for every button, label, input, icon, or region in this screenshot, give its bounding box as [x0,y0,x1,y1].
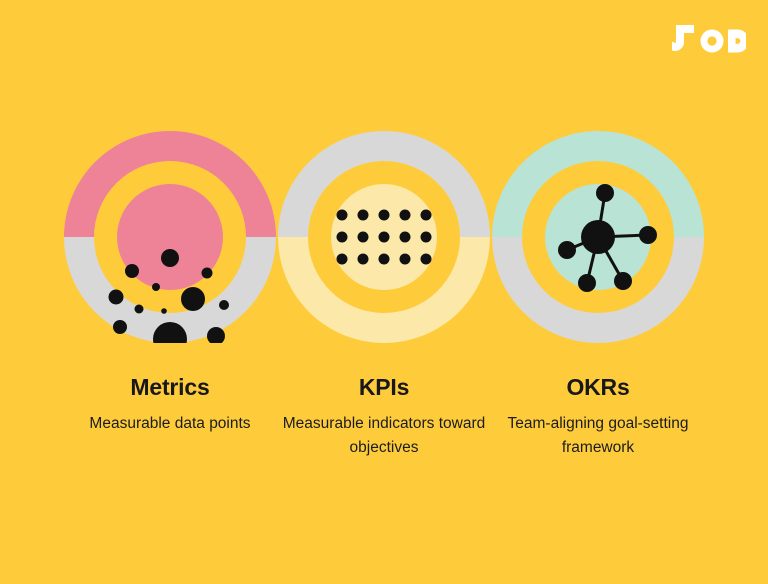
card-title-okrs: OKRs [566,375,629,400]
dot-grid-icon [278,131,490,343]
card-kpis[interactable]: KPIs Measurable indicators toward object… [278,0,490,460]
network-hub-icon [492,131,704,343]
card-title-metrics: Metrics [130,375,209,400]
card-description-okrs: Team-aligning goal-setting framework [493,412,703,460]
card-description-kpis: Measurable indicators toward objectives [279,412,489,460]
okrs-ring-graphic [492,131,704,343]
okrs-network-hub [581,220,615,254]
scatter-dots-icon [64,131,276,343]
card-description-metrics: Measurable data points [50,412,290,436]
metrics-ring-graphic [64,131,276,343]
infographic-slide: Metrics Measurable data points [0,0,768,584]
cards-row: Metrics Measurable data points [0,0,768,584]
card-metrics[interactable]: Metrics Measurable data points [64,0,276,436]
card-title-kpis: KPIs [359,375,409,400]
card-okrs[interactable]: OKRs Team-aligning goal-setting framewor… [492,0,704,460]
kpis-ring-graphic [278,131,490,343]
